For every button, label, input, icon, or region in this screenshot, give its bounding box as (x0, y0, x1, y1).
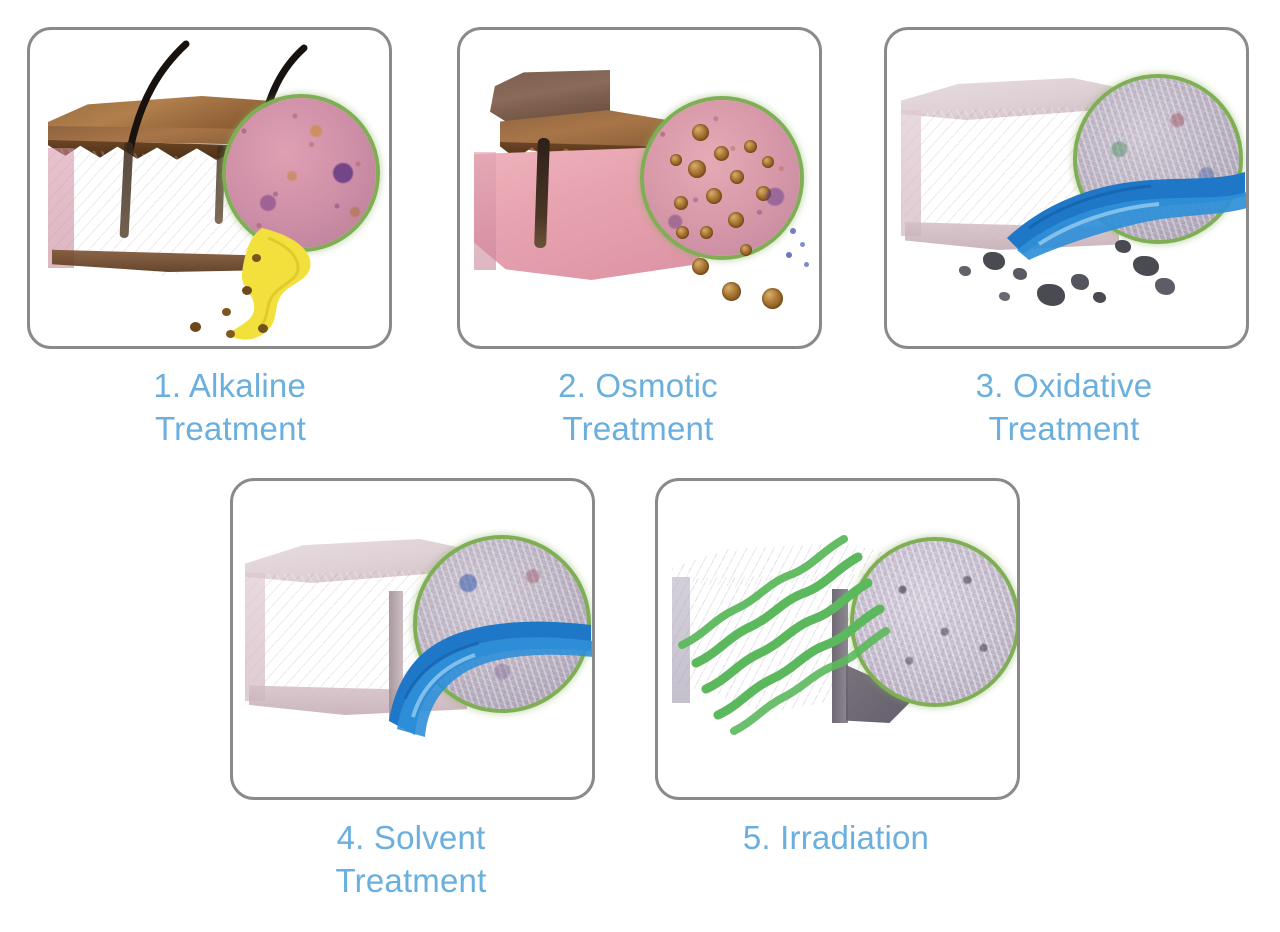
panel-2-osmotic-treatment[interactable] (457, 27, 822, 349)
falling-granule (762, 288, 783, 309)
dark-debris-cluster (1133, 256, 1159, 276)
falling-granule (676, 226, 689, 239)
panel-card (230, 478, 595, 800)
panel-card (884, 27, 1249, 349)
fluid-particle (190, 322, 201, 332)
panel-3-oxidative-treatment[interactable] (884, 27, 1249, 349)
fluid-particle (222, 308, 231, 316)
dark-debris-cluster (1013, 268, 1027, 280)
pale-dermis-left-side (245, 573, 265, 701)
falling-granule (722, 282, 741, 301)
blue-microdot (804, 262, 809, 267)
illustration-skin-block-solvent (233, 481, 592, 797)
dark-debris-cluster (1093, 292, 1106, 303)
blue-stream (383, 599, 595, 739)
panel-1-caption: 1. Alkaline Treatment (28, 364, 306, 450)
illustration-skin-block-osmotic (460, 30, 819, 346)
pale-dermis-left-side (901, 110, 921, 236)
dark-debris-cluster (1037, 284, 1065, 306)
fluid-particle (226, 330, 235, 338)
dark-debris-cluster (1155, 278, 1175, 295)
illustration-skin-block-alkaline (30, 30, 389, 346)
yellow-fluid-stream (198, 226, 338, 349)
panel-card (655, 478, 1020, 800)
blue-microdot (786, 252, 792, 258)
panel-card (27, 27, 392, 349)
magnified-purple-clusters (644, 100, 800, 256)
dark-debris-cluster (999, 292, 1010, 301)
falling-granule (740, 244, 752, 256)
dermis-left-side (474, 152, 496, 270)
treatment-steps-figure: 1. Alkaline Treatment (0, 0, 1280, 932)
illustration-skin-block-irradiation (658, 481, 1017, 797)
illustration-skin-block-oxidative (887, 30, 1246, 346)
fluid-particle (252, 254, 261, 262)
fluid-particle (258, 324, 268, 333)
panel-4-solvent-treatment[interactable] (230, 478, 595, 800)
dermis-left-side (48, 148, 74, 268)
panel-4-caption: 4. Solvent Treatment (235, 816, 587, 902)
dark-debris-cluster (983, 252, 1005, 270)
panel-5-caption: 5. Irradiation (660, 816, 1012, 859)
dark-debris-cluster (1071, 274, 1089, 290)
panel-card (457, 27, 822, 349)
dark-debris-cluster (1115, 240, 1131, 253)
hair-shaft-left (90, 38, 200, 158)
panel-1-alkaline-treatment[interactable] (27, 27, 392, 349)
blue-microdot (790, 228, 796, 234)
falling-granule (692, 258, 709, 275)
blue-microdot (800, 242, 805, 247)
dark-debris-cluster (959, 266, 971, 276)
green-wave-ray (716, 627, 896, 787)
panel-3-caption: 3. Oxidative Treatment (888, 364, 1240, 450)
fluid-particle (242, 286, 252, 295)
panel-2-caption: 2. Osmotic Treatment (462, 364, 814, 450)
magnifier-circle (644, 100, 800, 256)
panel-5-irradiation[interactable] (655, 478, 1020, 800)
